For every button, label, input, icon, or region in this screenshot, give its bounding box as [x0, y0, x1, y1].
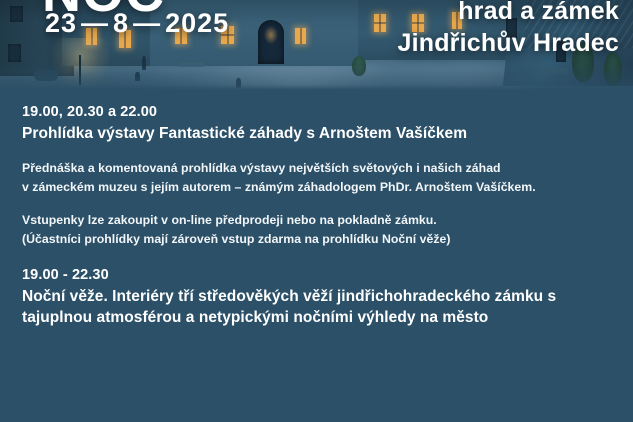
content-area: 19.00, 20.30 a 22.00 Prohlídka výstavy F…	[0, 90, 633, 422]
date-separator-1: —	[77, 10, 113, 37]
hero-banner: NOC 23—8—2025 hrad a zámek Jindřichův Hr…	[0, 0, 633, 90]
date-day: 23	[45, 8, 77, 38]
event-date: 23—8—2025	[45, 10, 229, 37]
event-description: Přednáška a komentovaná prohlídka výstav…	[22, 159, 613, 196]
ticket-line: (Účastníci prohlídky mají zároveň vstup …	[22, 230, 613, 249]
venue-block: hrad a zámek Jindřichův Hradec	[397, 0, 619, 59]
ticket-line: Vstupenky lze zakoupit v on-line předpro…	[22, 211, 613, 230]
date-month: 8	[113, 8, 129, 38]
poster-root: NOC 23—8—2025 hrad a zámek Jindřichův Hr…	[0, 0, 633, 422]
event-time: 19.00, 20.30 a 22.00	[22, 102, 613, 123]
date-year: 2025	[165, 8, 229, 38]
event-block: 19.00, 20.30 a 22.00 Prohlídka výstavy F…	[22, 102, 613, 249]
section-spacer	[22, 249, 613, 265]
ticket-info: Vstupenky lze zakoupit v on-line předpro…	[22, 211, 613, 248]
date-separator-2: —	[129, 10, 165, 37]
event-block: 19.00 - 22.30 Noční věže. Interiéry tří …	[22, 265, 613, 329]
venue-line-1: hrad a zámek	[397, 0, 619, 28]
description-line: v zámeckém muzeu s jejím autorem – známý…	[22, 178, 613, 197]
venue-line-2: Jindřichův Hradec	[397, 28, 619, 60]
description-line: Přednáška a komentovaná prohlídka výstav…	[22, 159, 613, 178]
event-title: Noční věže. Interiéry tří středověkých v…	[22, 286, 613, 329]
event-title: Prohlídka výstavy Fantastické záhady s A…	[22, 123, 613, 145]
event-time: 19.00 - 22.30	[22, 265, 613, 286]
